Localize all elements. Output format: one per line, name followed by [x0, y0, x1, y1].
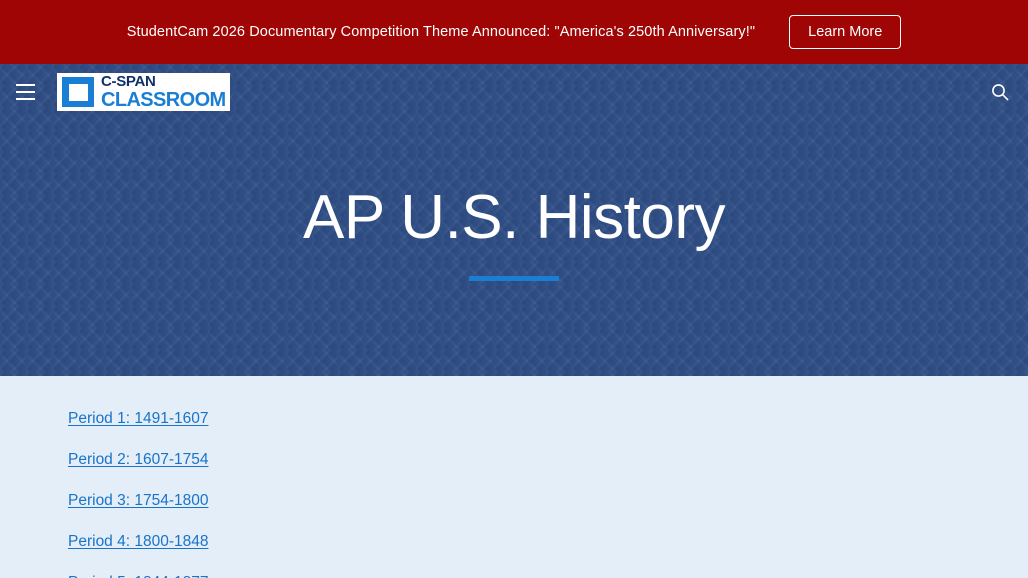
search-icon[interactable] [982, 74, 1018, 110]
logo-text-cspan: C-SPAN [101, 74, 226, 89]
announcement-text: StudentCam 2026 Documentary Competition … [127, 24, 755, 40]
period-links-section: Period 1: 1491-1607 Period 2: 1607-1754 … [0, 376, 1028, 578]
period-link-5[interactable]: Period 5: 1844-1877 [68, 574, 208, 578]
list-item: Period 4: 1800-1848 [68, 521, 1028, 562]
cspan-classroom-logo[interactable]: C-SPAN CLASSROOM [57, 73, 230, 111]
period-link-1[interactable]: Period 1: 1491-1607 [68, 410, 208, 428]
logo-text-classroom: CLASSROOM [101, 90, 226, 110]
announcement-banner: StudentCam 2026 Documentary Competition … [0, 0, 1028, 64]
hamburger-line [16, 98, 35, 100]
hamburger-menu-icon[interactable] [8, 75, 42, 109]
period-link-3[interactable]: Period 3: 1754-1800 [68, 492, 208, 510]
hamburger-line [16, 84, 35, 86]
logo-inner-square [69, 84, 88, 101]
site-navbar: C-SPAN CLASSROOM [0, 64, 1028, 120]
cspan-logo-mark-icon [62, 77, 94, 107]
period-link-4[interactable]: Period 4: 1800-1848 [68, 533, 208, 551]
list-item: Period 2: 1607-1754 [68, 439, 1028, 480]
title-accent-rule [469, 276, 559, 281]
learn-more-button[interactable]: Learn More [789, 15, 901, 49]
hero-section: C-SPAN CLASSROOM AP U.S. History [0, 64, 1028, 376]
period-link-2[interactable]: Period 2: 1607-1754 [68, 451, 208, 469]
list-item: Period 3: 1754-1800 [68, 480, 1028, 521]
list-item: Period 5: 1844-1877 [68, 562, 1028, 578]
list-item: Period 1: 1491-1607 [68, 398, 1028, 439]
hamburger-line [16, 91, 35, 93]
page-title: AP U.S. History [303, 185, 725, 250]
logo-wordmark: C-SPAN CLASSROOM [101, 74, 226, 110]
